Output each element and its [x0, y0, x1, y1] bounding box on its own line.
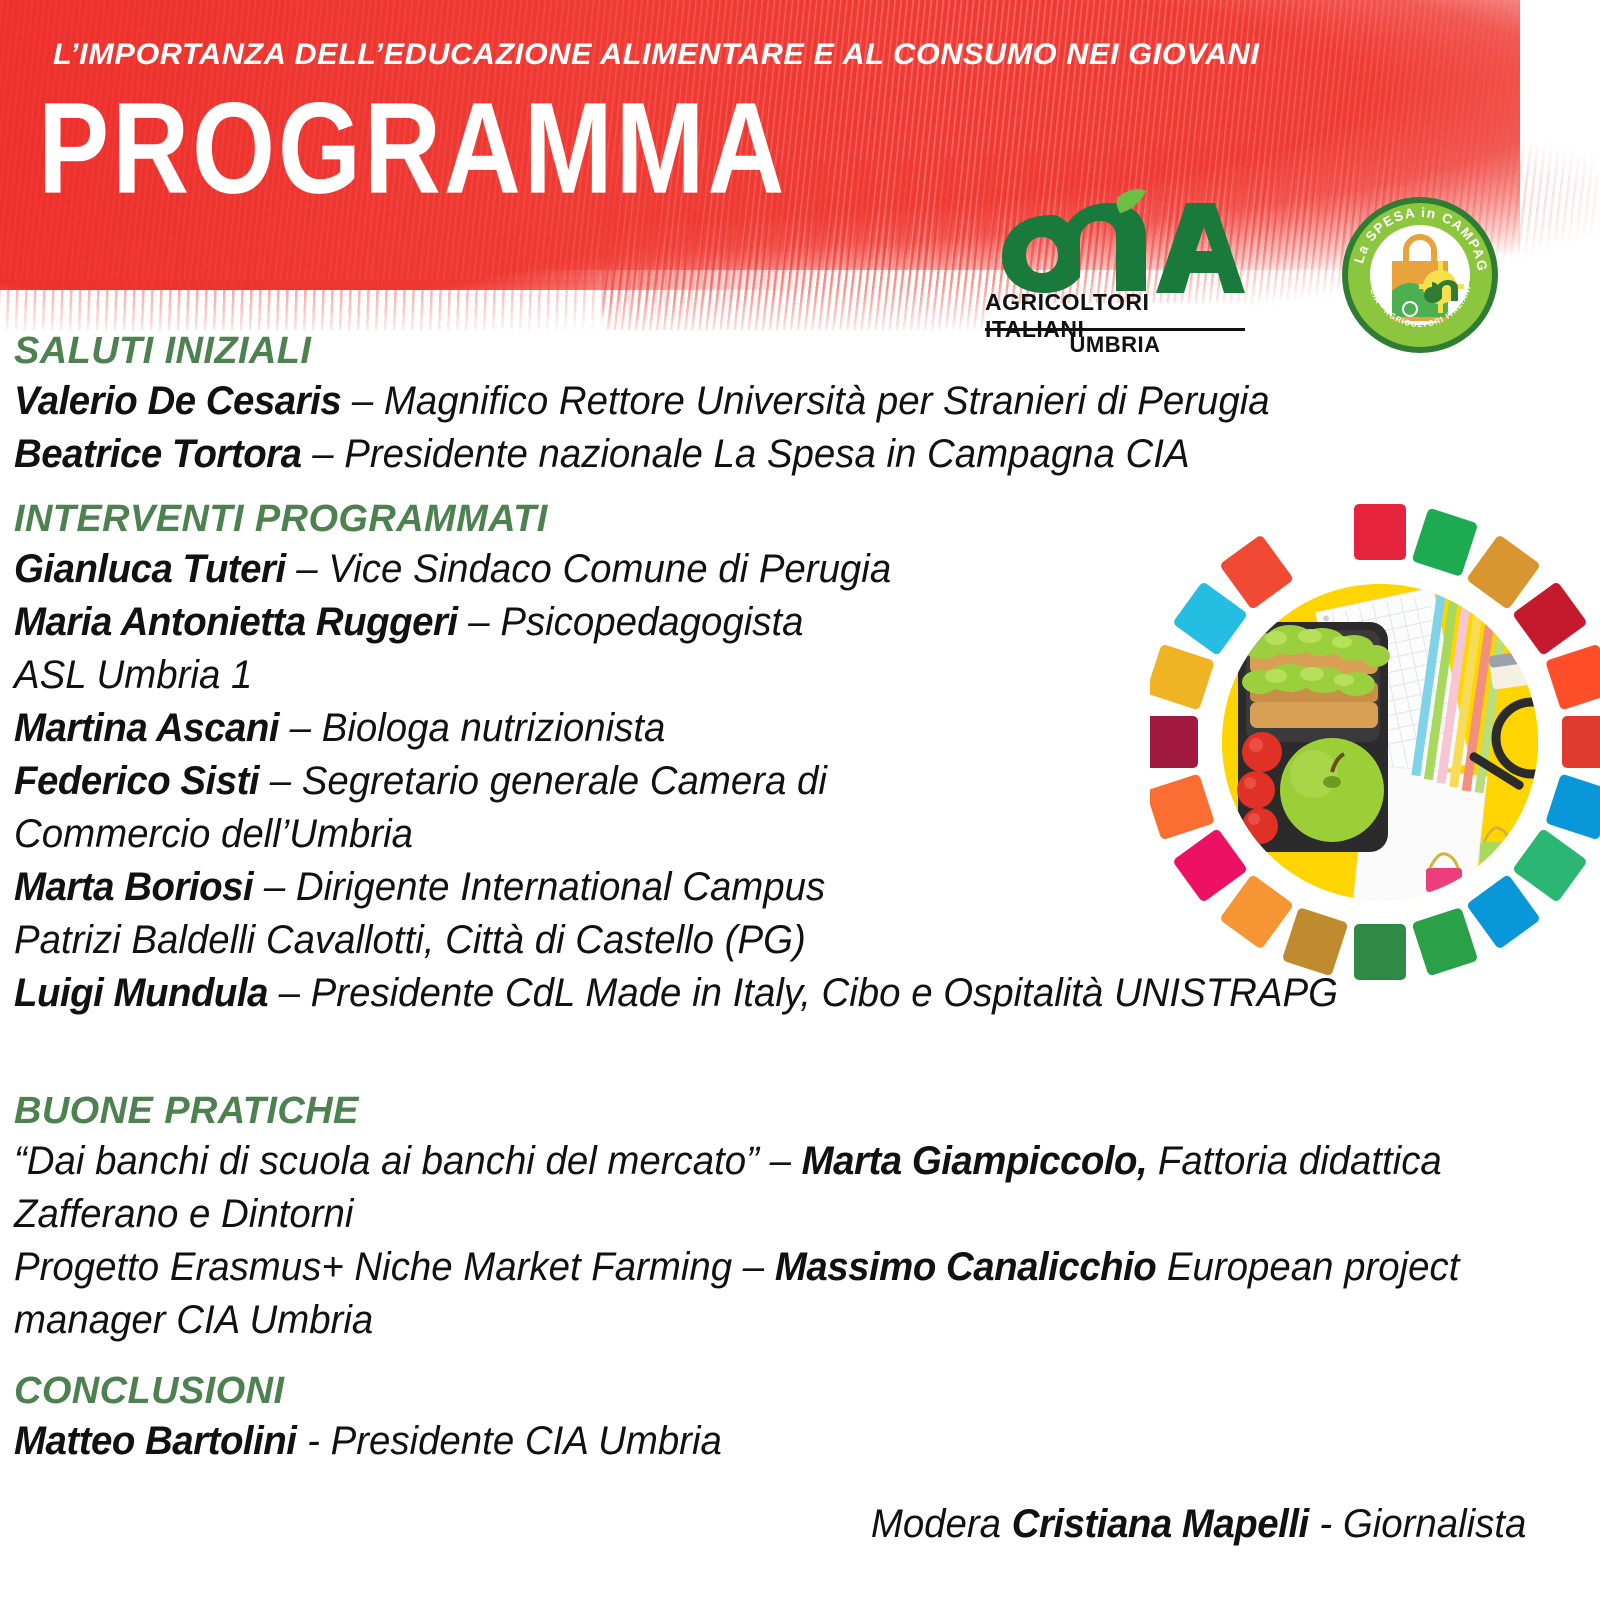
poster-kicker: L’IMPORTANZA DELL’EDUCAZIONE ALIMENTARE … — [53, 38, 1583, 72]
entry-dash: – — [268, 971, 311, 1015]
moderator-prefix: Modera — [871, 1502, 1012, 1546]
program-entry: Matteo Bartolini - Presidente CIA Umbria — [14, 1415, 1537, 1468]
entry-role: Dirigente International Campus — [296, 865, 825, 909]
entry-name: Martina Ascani — [14, 706, 279, 750]
entry-role: ASL Umbria 1 — [14, 653, 252, 697]
program-entry-continuation: ASL Umbria 1 — [14, 649, 1287, 702]
program-entry: Gianluca Tuteri – Vice Sindaco Comune di… — [14, 543, 1287, 596]
section-saluti-iniziali: SALUTI INIZIALI Valerio De Cesaris – Mag… — [0, 330, 1400, 481]
program-entry: Progetto Erasmus+ Niche Market Farming –… — [14, 1241, 1537, 1347]
section-heading-conclusioni: CONCLUSIONI — [14, 1370, 1600, 1413]
entry-name: Matteo Bartolini — [14, 1419, 296, 1463]
entry-name: Massimo Canalicchio — [775, 1245, 1156, 1289]
program-entry: Federico Sisti – Segretario generale Cam… — [14, 755, 1287, 808]
section-heading-buone: BUONE PRATICHE — [14, 1090, 1600, 1133]
cia-wordmark-icon — [990, 185, 1245, 300]
entry-role: Presidente CIA Umbria — [331, 1419, 722, 1463]
entry-prefix: “Dai banchi di scuola ai banchi del merc… — [14, 1139, 802, 1183]
section-interventi-programmati: INTERVENTI PROGRAMMATI Gianluca Tuteri –… — [0, 498, 1340, 1020]
program-entry: Marta Boriosi – Dirigente International … — [14, 861, 1287, 914]
entry-role: Patrizi Baldelli Cavallotti, Città di Ca… — [14, 918, 806, 962]
entry-role: Presidente CdL Made in Italy, Cibo e Osp… — [311, 971, 1338, 1015]
entry-role: Magnifico Rettore Università per Stranie… — [384, 379, 1270, 423]
moderator-suffix: - Giornalista — [1309, 1502, 1527, 1546]
moderator-name: Cristiana Mapelli — [1012, 1502, 1309, 1546]
section-heading-interventi: INTERVENTI PROGRAMMATI — [14, 498, 1340, 541]
program-entry: Beatrice Tortora – Presidente nazionale … — [14, 428, 1345, 481]
program-entry: Luigi Mundula – Presidente CdL Made in I… — [14, 967, 1287, 1020]
program-entry-continuation: Commercio dell’Umbria — [14, 808, 1287, 861]
section-conclusioni: CONCLUSIONI Matteo Bartolini - President… — [0, 1370, 1600, 1551]
entry-dash: - — [296, 1419, 330, 1463]
moderator-line: Modera Cristiana Mapelli - Giornalista — [0, 1498, 1526, 1551]
entry-name: Maria Antonietta Ruggeri — [14, 600, 458, 644]
entry-name: Federico Sisti — [14, 759, 259, 803]
entry-role: Biologa nutrizionista — [322, 706, 666, 750]
cia-logo-line1: AGRICOLTORI ITALIANI — [985, 303, 1245, 329]
entry-dash: – — [341, 379, 384, 423]
section-heading-saluti: SALUTI INIZIALI — [14, 330, 1400, 373]
entry-dash: – — [259, 759, 302, 803]
entry-dash: – — [302, 432, 345, 476]
program-entry-continuation: Patrizi Baldelli Cavallotti, Città di Ca… — [14, 914, 1287, 967]
entry-role: Commercio dell’Umbria — [14, 812, 413, 856]
entry-name: Marta Giampiccolo, — [802, 1139, 1148, 1183]
brush-wisp-streaks — [0, 235, 820, 330]
program-entry: “Dai banchi di scuola ai banchi del merc… — [14, 1135, 1537, 1241]
program-entry: Maria Antonietta Ruggeri – Psicopedagogi… — [14, 596, 1287, 649]
entry-role: Psicopedagogista — [500, 600, 803, 644]
entry-role: Segretario generale Camera di — [302, 759, 827, 803]
entry-prefix: Progetto Erasmus+ Niche Market Farming – — [14, 1245, 775, 1289]
entry-dash: – — [279, 706, 322, 750]
entry-name: Valerio De Cesaris — [14, 379, 341, 423]
entry-dash: – — [286, 547, 329, 591]
entry-dash: – — [253, 865, 296, 909]
section-buone-pratiche: BUONE PRATICHE “Dai banchi di scuola ai … — [0, 1090, 1600, 1347]
entry-name: Luigi Mundula — [14, 971, 268, 1015]
entry-name: Marta Boriosi — [14, 865, 253, 909]
entry-role: Vice Sindaco Comune di Perugia — [328, 547, 891, 591]
cia-logo: AGRICOLTORI ITALIANI UMBRIA — [975, 185, 1255, 350]
entry-name: Beatrice Tortora — [14, 432, 302, 476]
program-entry: Valerio De Cesaris – Magnifico Rettore U… — [14, 375, 1345, 428]
page-title: PROGRAMMA — [38, 90, 787, 208]
entry-dash: – — [458, 600, 501, 644]
entry-name: Gianluca Tuteri — [14, 547, 286, 591]
program-entry: Martina Ascani – Biologa nutrizionista — [14, 702, 1287, 755]
entry-role: Presidente nazionale La Spesa in Campagn… — [344, 432, 1189, 476]
